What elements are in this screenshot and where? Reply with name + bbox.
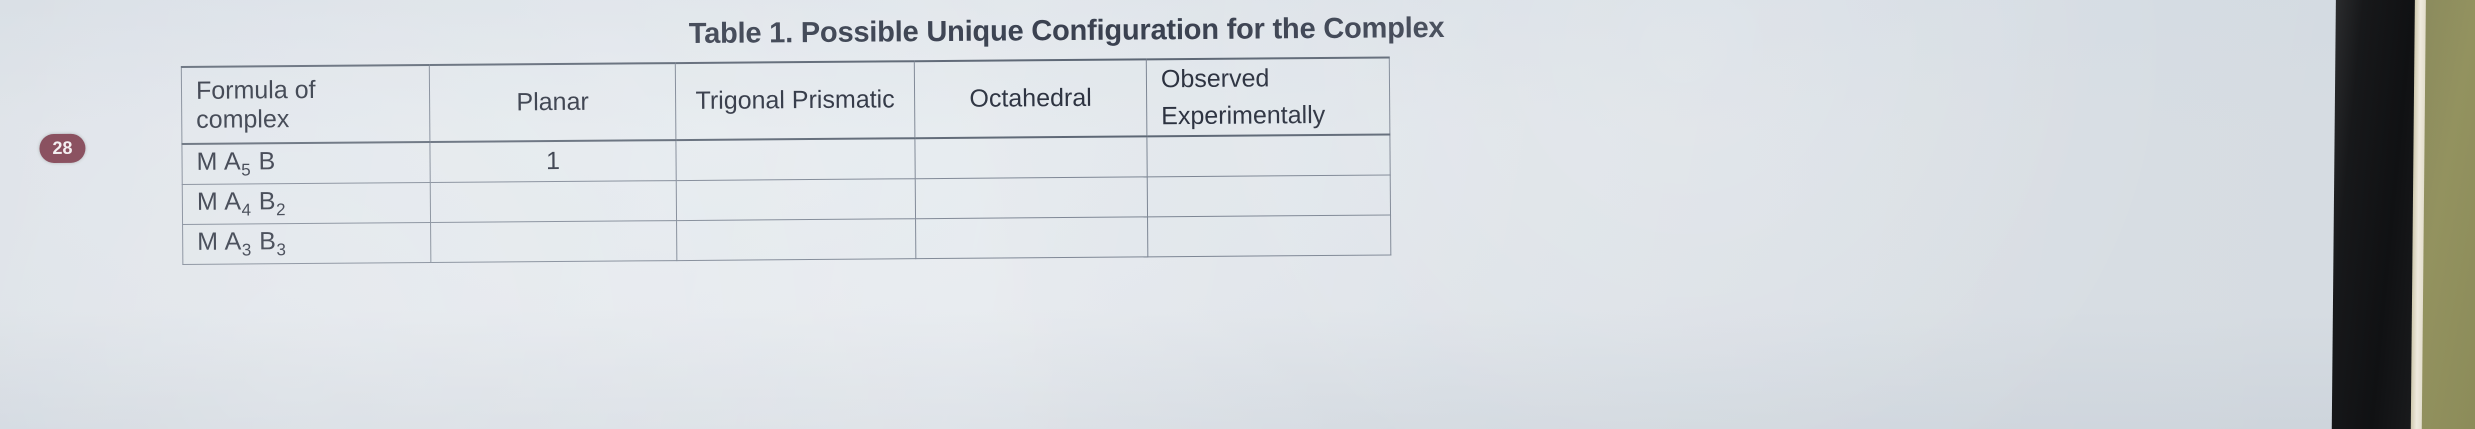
table-header: Formula of complex Planar Trigonal Prism…	[181, 57, 1390, 143]
cell-observed-experimentally[interactable]	[1147, 134, 1390, 176]
observed-line-1: Observed	[1161, 60, 1375, 98]
formula-subscript-b: 2	[276, 200, 286, 219]
cell-observed-experimentally[interactable]	[1148, 215, 1391, 257]
formula-base: M A	[197, 227, 242, 255]
configuration-table: Formula of complex Planar Trigonal Prism…	[181, 56, 1392, 264]
table-container: Formula of complex Planar Trigonal Prism…	[181, 56, 1391, 264]
cell-trigonal-prismatic[interactable]	[676, 138, 915, 180]
formula-base: M A	[197, 187, 242, 215]
column-header-formula: Formula of complex	[181, 65, 430, 144]
formula-base: M A	[196, 147, 241, 175]
formula-subscript-a: 3	[242, 240, 252, 259]
screenshot-root: Table 1. Possible Unique Configuration f…	[0, 0, 2475, 429]
formula-subscript-a: 4	[241, 200, 251, 219]
formula-subscript-a: 5	[241, 160, 251, 179]
cell-trigonal-prismatic[interactable]	[676, 179, 915, 221]
table-header-row: Formula of complex Planar Trigonal Prism…	[181, 57, 1390, 143]
formula-b: B	[251, 187, 276, 215]
background-wall	[2421, 0, 2475, 429]
cell-octahedral[interactable]	[916, 217, 1148, 259]
cell-formula[interactable]: M A4 B2	[182, 183, 430, 225]
cell-observed-experimentally[interactable]	[1147, 175, 1390, 217]
cell-octahedral[interactable]	[915, 177, 1147, 219]
column-header-observed-experimentally: Observed Experimentally	[1146, 57, 1390, 136]
cell-formula[interactable]: M A3 B3	[183, 223, 431, 265]
formula-b: B	[251, 147, 276, 175]
cell-trigonal-prismatic[interactable]	[677, 219, 916, 261]
formula-b: B	[252, 227, 277, 255]
column-header-octahedral: Octahedral	[914, 59, 1147, 138]
cell-planar[interactable]	[431, 221, 677, 263]
cell-formula[interactable]: M A5 B	[182, 142, 430, 184]
cell-octahedral[interactable]	[915, 136, 1147, 178]
observed-line-2: Experimentally	[1161, 96, 1375, 134]
page-title: Table 1. Possible Unique Configuration f…	[516, 11, 1616, 53]
page-number-badge: 28	[39, 134, 85, 163]
cell-planar[interactable]	[430, 181, 676, 223]
column-header-trigonal-prismatic: Trigonal Prismatic	[675, 61, 915, 140]
document-content: Table 1. Possible Unique Configuration f…	[0, 0, 2352, 429]
table-row: M A3 B3	[183, 215, 1391, 264]
table-body: M A5 B 1 M A4 B2 M A3 B3	[182, 134, 1391, 264]
cell-planar[interactable]: 1	[430, 140, 676, 182]
formula-subscript-b: 3	[276, 240, 286, 259]
column-header-planar: Planar	[429, 63, 676, 142]
